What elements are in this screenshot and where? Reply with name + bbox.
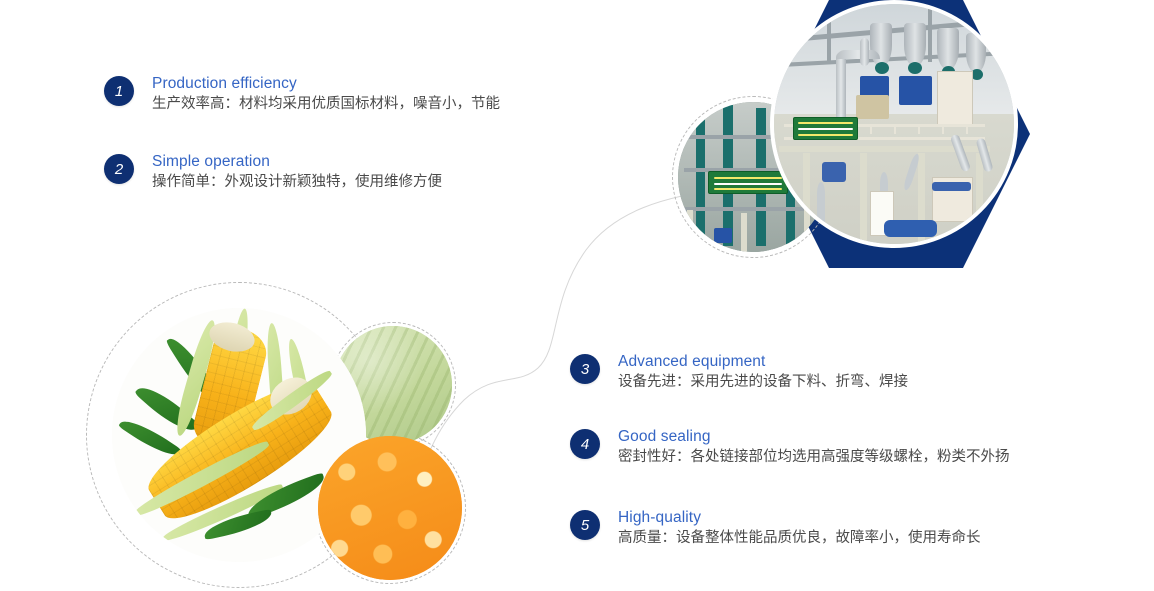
feature-text-2: Simple operation 操作简单：外观设计新颖独特，使用维修方便 [152,152,442,193]
feature-description-1: 生产效率高：材料均采用优质国标材料，噪音小，节能 [152,94,500,115]
feature-text-1: Production efficiency 生产效率高：材料均采用优质国标材料，… [152,74,500,115]
feature-number-badge-5: 5 [570,510,600,540]
feature-item-2: 2 Simple operation 操作简单：外观设计新颖独特，使用维修方便 [104,152,442,193]
factory-main-photo [770,0,1018,248]
feature-text-4: Good sealing 密封性好：各处链接部位均选用高强度等级螺栓，粉类不外扬 [618,427,1010,468]
feature-number-badge-4: 4 [570,429,600,459]
feature-title-2: Simple operation [152,152,442,171]
feature-title-1: Production efficiency [152,74,500,93]
feature-title-4: Good sealing [618,427,1010,446]
feature-description-3: 设备先进：采用先进的设备下料、折弯、焊接 [618,372,908,393]
feature-number-badge-1: 1 [104,76,134,106]
feature-text-3: Advanced equipment 设备先进：采用先进的设备下料、折弯、焊接 [618,352,908,393]
feature-description-5: 高质量：设备整体性能品质优良，故障率小，使用寿命长 [618,528,981,549]
feature-description-4: 密封性好：各处链接部位均选用高强度等级螺栓，粉类不外扬 [618,447,1010,468]
factory-media-group [672,0,1072,292]
feature-number-badge-2: 2 [104,154,134,184]
feature-item-3: 3 Advanced equipment 设备先进：采用先进的设备下料、折弯、焊… [570,352,908,393]
produce-media-group [86,282,486,591]
feature-item-1: 1 Production efficiency 生产效率高：材料均采用优质国标材… [104,74,500,115]
feature-item-5: 5 High-quality 高质量：设备整体性能品质优良，故障率小，使用寿命长 [570,508,981,549]
page-root: 1 Production efficiency 生产效率高：材料均采用优质国标材… [0,0,1154,591]
feature-number-badge-3: 3 [570,354,600,384]
feature-item-4: 4 Good sealing 密封性好：各处链接部位均选用高强度等级螺栓，粉类不… [570,427,1010,468]
feature-text-5: High-quality 高质量：设备整体性能品质优良，故障率小，使用寿命长 [618,508,981,549]
feature-title-3: Advanced equipment [618,352,908,371]
feature-title-5: High-quality [618,508,981,527]
feature-description-2: 操作简单：外观设计新颖独特，使用维修方便 [152,172,442,193]
corn-kernels-photo [318,436,462,580]
factory-banner [793,117,857,141]
